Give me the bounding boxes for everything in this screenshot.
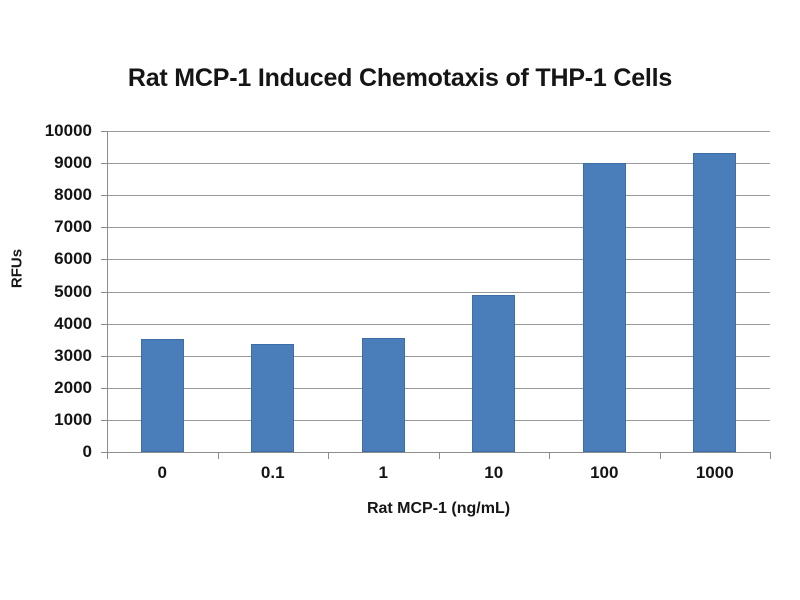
- gridline: [107, 292, 770, 293]
- gridline: [107, 388, 770, 389]
- x-axis-tick-label: 0: [107, 463, 218, 483]
- chart-container: Rat MCP-1 Induced Chemotaxis of THP-1 Ce…: [0, 0, 800, 600]
- gridline: [107, 227, 770, 228]
- x-axis-tick-label: 1000: [660, 463, 771, 483]
- y-axis-tick-label: 7000: [0, 218, 92, 235]
- x-axis-tick-label: 0.1: [218, 463, 329, 483]
- y-axis-tick-label: 1000: [0, 411, 92, 428]
- bar: [362, 338, 405, 452]
- gridline: [107, 356, 770, 357]
- bar: [141, 339, 184, 452]
- plot-area: [107, 131, 770, 452]
- bar: [472, 295, 515, 452]
- y-axis-tick-label: 3000: [0, 347, 92, 364]
- x-axis-title: Rat MCP-1 (ng/mL): [107, 500, 770, 518]
- chart-title: Rat MCP-1 Induced Chemotaxis of THP-1 Ce…: [0, 64, 800, 93]
- x-axis-line: [101, 452, 770, 453]
- y-axis-tick-label: 4000: [0, 315, 92, 332]
- bar: [251, 344, 294, 452]
- gridline: [107, 195, 770, 196]
- x-axis-tick-mark: [328, 452, 329, 459]
- x-axis-tick-label: 100: [549, 463, 660, 483]
- y-axis-tick-label: 9000: [0, 154, 92, 171]
- x-axis-tick-label: 1: [328, 463, 439, 483]
- x-axis-tick-mark: [439, 452, 440, 459]
- x-axis-tick-mark: [218, 452, 219, 459]
- y-axis-line: [107, 131, 108, 453]
- gridline: [107, 163, 770, 164]
- gridline: [107, 259, 770, 260]
- y-axis-tick-label: 0: [0, 443, 92, 460]
- x-axis-tick-mark: [660, 452, 661, 459]
- y-axis-tick-label: 2000: [0, 379, 92, 396]
- x-axis-tick-mark: [107, 452, 108, 459]
- bar: [583, 163, 626, 452]
- gridline: [107, 131, 770, 132]
- y-axis-tick-label: 6000: [0, 250, 92, 267]
- y-axis-tick-label: 5000: [0, 283, 92, 300]
- x-axis-tick-mark: [770, 452, 771, 459]
- x-axis-tick-mark: [549, 452, 550, 459]
- y-axis-tick-label: 10000: [0, 122, 92, 139]
- bar: [693, 153, 736, 452]
- x-axis-tick-label: 10: [439, 463, 550, 483]
- gridline: [107, 324, 770, 325]
- gridline: [107, 420, 770, 421]
- y-axis-tick-label: 8000: [0, 186, 92, 203]
